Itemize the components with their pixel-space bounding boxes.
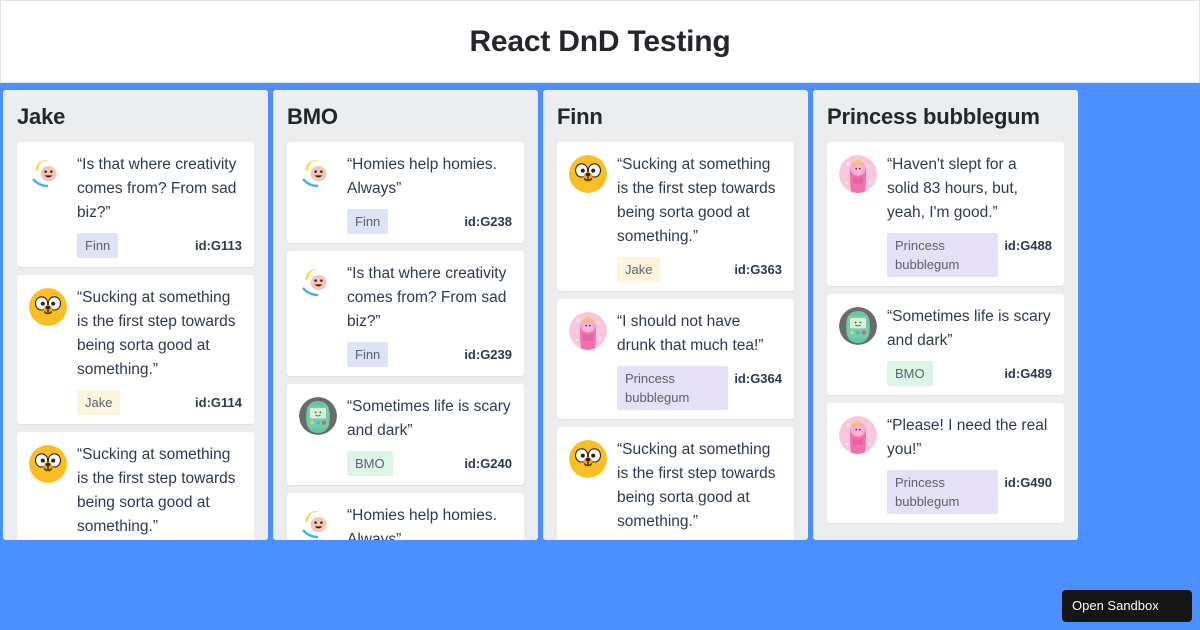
card-author-tag: Princess bubblegum [617, 366, 728, 410]
card-content: “Sometimes life is scary and dark”BMOid:… [347, 395, 512, 476]
bmo-avatar-icon [299, 397, 337, 435]
card-content: “Please! I need the real you!”Princess b… [887, 414, 1052, 514]
jake-avatar-icon [29, 445, 67, 483]
card-author-tag: Finn [77, 233, 118, 258]
card-content: “Homies help homies. Always”Finnid:G241 [347, 504, 512, 540]
finn-avatar-icon [299, 506, 337, 540]
card-id: id:G490 [1004, 470, 1052, 490]
pb-avatar-icon [839, 155, 877, 193]
finn-avatar-icon [299, 264, 337, 302]
jake-avatar-icon [569, 155, 607, 193]
card-content: “Is that where creativity comes from? Fr… [347, 262, 512, 367]
card-quote: “Is that where creativity comes from? Fr… [347, 262, 512, 334]
card-quote: “Sucking at something is the first step … [617, 153, 782, 249]
quote-card[interactable]: “Is that where creativity comes from? Fr… [287, 251, 524, 376]
open-sandbox-button[interactable]: Open Sandbox [1062, 590, 1192, 622]
card-meta: BMOid:G240 [347, 451, 512, 476]
finn-avatar-icon [29, 155, 67, 193]
jake-avatar-icon [569, 155, 607, 193]
card-id: id:G489 [1004, 361, 1052, 381]
pb-avatar-icon [839, 416, 877, 454]
column-card-list: “Haven't slept for a solid 83 hours, but… [813, 142, 1078, 523]
finn-avatar-icon [299, 264, 337, 302]
card-content: “Sometimes life is scary and dark”BMOid:… [887, 305, 1052, 386]
jake-avatar-icon [569, 440, 607, 478]
card-meta: Princess bubblegumid:G488 [887, 233, 1052, 277]
card-content: “Haven't slept for a solid 83 hours, but… [887, 153, 1052, 277]
card-author-tag: Jake [77, 390, 120, 415]
card-meta: Princess bubblegumid:G364 [617, 366, 782, 410]
card-content: “Sucking at something is the first step … [617, 438, 782, 540]
card-author-tag: Finn [347, 209, 388, 234]
card-id: id:G239 [464, 342, 512, 362]
column-card-list: “Sucking at something is the first step … [543, 142, 808, 540]
quote-card[interactable]: “Sometimes life is scary and dark”BMOid:… [287, 384, 524, 485]
card-meta: Finnid:G113 [77, 233, 242, 258]
column-title: Princess bubblegum [813, 90, 1078, 142]
card-meta: Princess bubblegumid:G490 [887, 470, 1052, 514]
pb-avatar-icon [569, 312, 607, 350]
card-content: “I should not have drunk that much tea!”… [617, 310, 782, 410]
card-author-tag: Jake [617, 257, 660, 282]
quote-card[interactable]: “I should not have drunk that much tea!”… [557, 299, 794, 419]
card-meta: Finnid:G238 [347, 209, 512, 234]
board-column[interactable]: Jake “Is that where creativity comes fro… [3, 90, 268, 540]
card-author-tag: BMO [887, 361, 933, 386]
finn-avatar-icon [29, 155, 67, 193]
card-quote: “Sometimes life is scary and dark” [347, 395, 512, 443]
quote-card[interactable]: “Please! I need the real you!”Princess b… [827, 403, 1064, 523]
card-quote: “Sucking at something is the first step … [77, 286, 242, 382]
card-author-tag: Finn [347, 342, 388, 367]
quote-card[interactable]: “Homies help homies. Always”Finnid:G238 [287, 142, 524, 243]
app-root: React DnD Testing Jake “Is that where cr… [0, 0, 1200, 630]
card-quote: “Homies help homies. Always” [347, 153, 512, 201]
finn-avatar-icon [299, 155, 337, 193]
column-card-list: “Homies help homies. Always”Finnid:G238 … [273, 142, 538, 540]
board-column[interactable]: Finn “Sucking at something is the first … [543, 90, 808, 540]
jake-avatar-icon [569, 440, 607, 478]
jake-avatar-icon [29, 445, 67, 483]
quote-card[interactable]: “Sucking at something is the first step … [557, 427, 794, 540]
card-id: id:G113 [195, 233, 242, 253]
quote-card[interactable]: “Sometimes life is scary and dark”BMOid:… [827, 294, 1064, 395]
card-author-tag: BMO [347, 451, 393, 476]
card-content: “Is that where creativity comes from? Fr… [77, 153, 242, 258]
column-title: Jake [3, 90, 268, 142]
kanban-board: Jake “Is that where creativity comes fro… [0, 90, 1200, 545]
column-title: Finn [543, 90, 808, 142]
card-author-tag: Princess bubblegum [887, 233, 998, 277]
finn-avatar-icon [299, 155, 337, 193]
card-quote: “Homies help homies. Always” [347, 504, 512, 540]
quote-card[interactable]: “Sucking at something is the first step … [557, 142, 794, 291]
quote-card[interactable]: “Haven't slept for a solid 83 hours, but… [827, 142, 1064, 286]
board-column[interactable]: BMO “Homies help homies. Always”Finnid:G… [273, 90, 538, 540]
card-quote: “Sucking at something is the first step … [617, 438, 782, 534]
column-title: BMO [273, 90, 538, 142]
page-header: React DnD Testing [0, 0, 1200, 83]
bmo-avatar-icon [299, 397, 337, 435]
pb-avatar-icon [839, 155, 877, 193]
page-title: React DnD Testing [469, 25, 730, 59]
card-content: “Sucking at something is the first step … [617, 153, 782, 282]
card-id: id:G488 [1004, 233, 1052, 253]
board-column[interactable]: Princess bubblegum “Haven't slept for a … [813, 90, 1078, 540]
quote-card[interactable]: “Homies help homies. Always”Finnid:G241 [287, 493, 524, 540]
card-content: “Sucking at something is the first step … [77, 443, 242, 540]
card-quote: “Sucking at something is the first step … [77, 443, 242, 539]
jake-avatar-icon [29, 288, 67, 326]
card-quote: “Haven't slept for a solid 83 hours, but… [887, 153, 1052, 225]
card-id: id:G240 [464, 451, 512, 471]
card-id: id:G364 [734, 366, 782, 386]
card-meta: Jakeid:G363 [617, 257, 782, 282]
jake-avatar-icon [29, 288, 67, 326]
pb-avatar-icon [839, 416, 877, 454]
card-quote: “I should not have drunk that much tea!” [617, 310, 782, 358]
quote-card[interactable]: “Sucking at something is the first step … [17, 432, 254, 540]
card-content: “Homies help homies. Always”Finnid:G238 [347, 153, 512, 234]
card-id: id:G114 [195, 390, 242, 410]
card-meta: Finnid:G239 [347, 342, 512, 367]
pb-avatar-icon [569, 312, 607, 350]
card-quote: “Is that where creativity comes from? Fr… [77, 153, 242, 225]
bmo-avatar-icon [839, 307, 877, 345]
quote-card[interactable]: “Sucking at something is the first step … [17, 275, 254, 424]
finn-avatar-icon [299, 506, 337, 540]
card-meta: Jakeid:G114 [77, 390, 242, 415]
quote-card[interactable]: “Is that where creativity comes from? Fr… [17, 142, 254, 267]
card-content: “Sucking at something is the first step … [77, 286, 242, 415]
card-meta: BMOid:G489 [887, 361, 1052, 386]
card-author-tag: Princess bubblegum [887, 470, 998, 514]
card-id: id:G363 [734, 257, 782, 277]
card-id: id:G238 [464, 209, 512, 229]
card-quote: “Sometimes life is scary and dark” [887, 305, 1052, 353]
bmo-avatar-icon [839, 307, 877, 345]
card-quote: “Please! I need the real you!” [887, 414, 1052, 462]
column-card-list: “Is that where creativity comes from? Fr… [3, 142, 268, 540]
